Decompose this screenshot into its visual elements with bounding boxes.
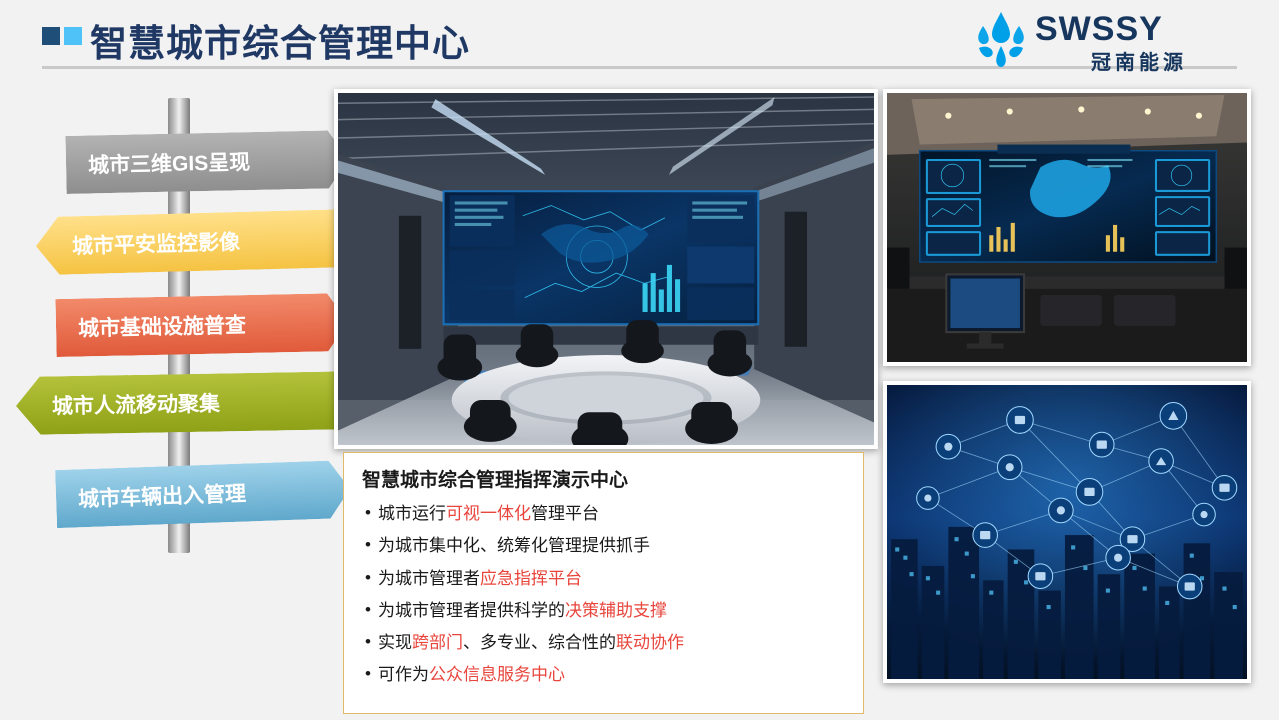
description-bullet-item: •为城市管理者应急指挥平台	[358, 568, 850, 589]
logo-subtitle: 冠南能源	[1091, 46, 1187, 75]
bullet-plain-run: 为城市管理者提供科学的	[378, 601, 565, 620]
bullet-plain-run: 管理平台	[531, 504, 599, 523]
bullet-text: 城市运行可视一体化管理平台	[378, 503, 599, 524]
brand-logo: SWSSY 冠南能源	[973, 8, 1243, 70]
bullet-plain-run: 城市运行	[378, 504, 446, 523]
bullet-highlight-run: 公众信息服务中心	[429, 665, 565, 684]
bullet-highlight-run: 联动协作	[616, 633, 684, 652]
signpost-label: 城市基础设施普查	[78, 309, 247, 343]
description-bullet-item: •为城市管理者提供科学的决策辅助支撑	[358, 600, 850, 621]
bullet-text: 为城市管理者应急指挥平台	[378, 568, 582, 589]
control-room-photo	[883, 89, 1251, 366]
bullet-dot-icon: •	[358, 632, 378, 652]
bullet-text: 为城市集中化、统筹化管理提供抓手	[378, 535, 650, 556]
bullet-dot-icon: •	[358, 568, 378, 588]
bullet-text: 为城市管理者提供科学的决策辅助支撑	[378, 600, 667, 621]
description-panel: 智慧城市综合管理指挥演示中心 •城市运行可视一体化管理平台•为城市集中化、统筹化…	[343, 452, 864, 714]
description-title: 智慧城市综合管理指挥演示中心	[362, 465, 628, 492]
bullet-highlight-run: 可视一体化	[446, 504, 531, 523]
water-drop-logo-icon	[973, 10, 1029, 68]
signpost-label: 城市三维GIS呈现	[88, 146, 251, 179]
bullet-plain-run: 为城市集中化、统筹化管理提供抓手	[378, 536, 650, 555]
page-header: 智慧城市综合管理中心 SWSSY 冠南能源	[0, 0, 1279, 80]
description-bullet-list: •城市运行可视一体化管理平台•为城市集中化、统筹化管理提供抓手•为城市管理者应急…	[358, 503, 850, 697]
signpost-item-crowd-flow[interactable]: 城市人流移动聚集	[16, 371, 363, 435]
bullet-plain-run: 可作为	[378, 665, 429, 684]
bullet-plain-run: 为城市管理者	[378, 569, 480, 588]
description-bullet-item: •城市运行可视一体化管理平台	[358, 503, 850, 524]
description-bullet-item: •实现跨部门、多专业、综合性的联动协作	[358, 632, 850, 653]
smart-city-network-photo	[883, 381, 1251, 683]
signpost-label: 城市车辆出入管理	[78, 478, 247, 514]
bullet-dot-icon: •	[358, 503, 378, 523]
bullet-highlight-run: 应急指挥平台	[480, 569, 582, 588]
command-center-main-photo	[334, 89, 878, 449]
signpost-label: 城市平安监控影像	[72, 226, 241, 260]
bullet-highlight-run: 跨部门	[412, 633, 463, 652]
signpost-label: 城市人流移动聚集	[52, 387, 220, 420]
signpost-item-vehicle-access[interactable]: 城市车辆出入管理	[55, 460, 351, 528]
description-bullet-item: •可作为公众信息服务中心	[358, 664, 850, 685]
signpost-item-infrastructure[interactable]: 城市基础设施普查	[55, 293, 348, 357]
bullet-dot-icon: •	[358, 600, 378, 620]
description-bullet-item: •为城市集中化、统筹化管理提供抓手	[358, 535, 850, 556]
bullet-highlight-run: 决策辅助支撑	[565, 601, 667, 620]
bullet-plain-run: 实现	[378, 633, 412, 652]
header-square-dark-icon	[42, 27, 60, 45]
header-square-light-icon	[64, 27, 82, 45]
bullet-text: 可作为公众信息服务中心	[378, 664, 565, 685]
bullet-plain-run: 、多专业、综合性的	[463, 633, 616, 652]
signpost-item-gis[interactable]: 城市三维GIS呈现	[65, 130, 348, 194]
bullet-dot-icon: •	[358, 535, 378, 555]
logo-wordmark: SWSSY	[1035, 10, 1163, 49]
signpost-item-surveillance[interactable]: 城市平安监控影像	[35, 209, 362, 276]
bullet-text: 实现跨部门、多专业、综合性的联动协作	[378, 632, 684, 653]
page-title: 智慧城市综合管理中心	[90, 13, 470, 67]
bullet-dot-icon: •	[358, 664, 378, 684]
